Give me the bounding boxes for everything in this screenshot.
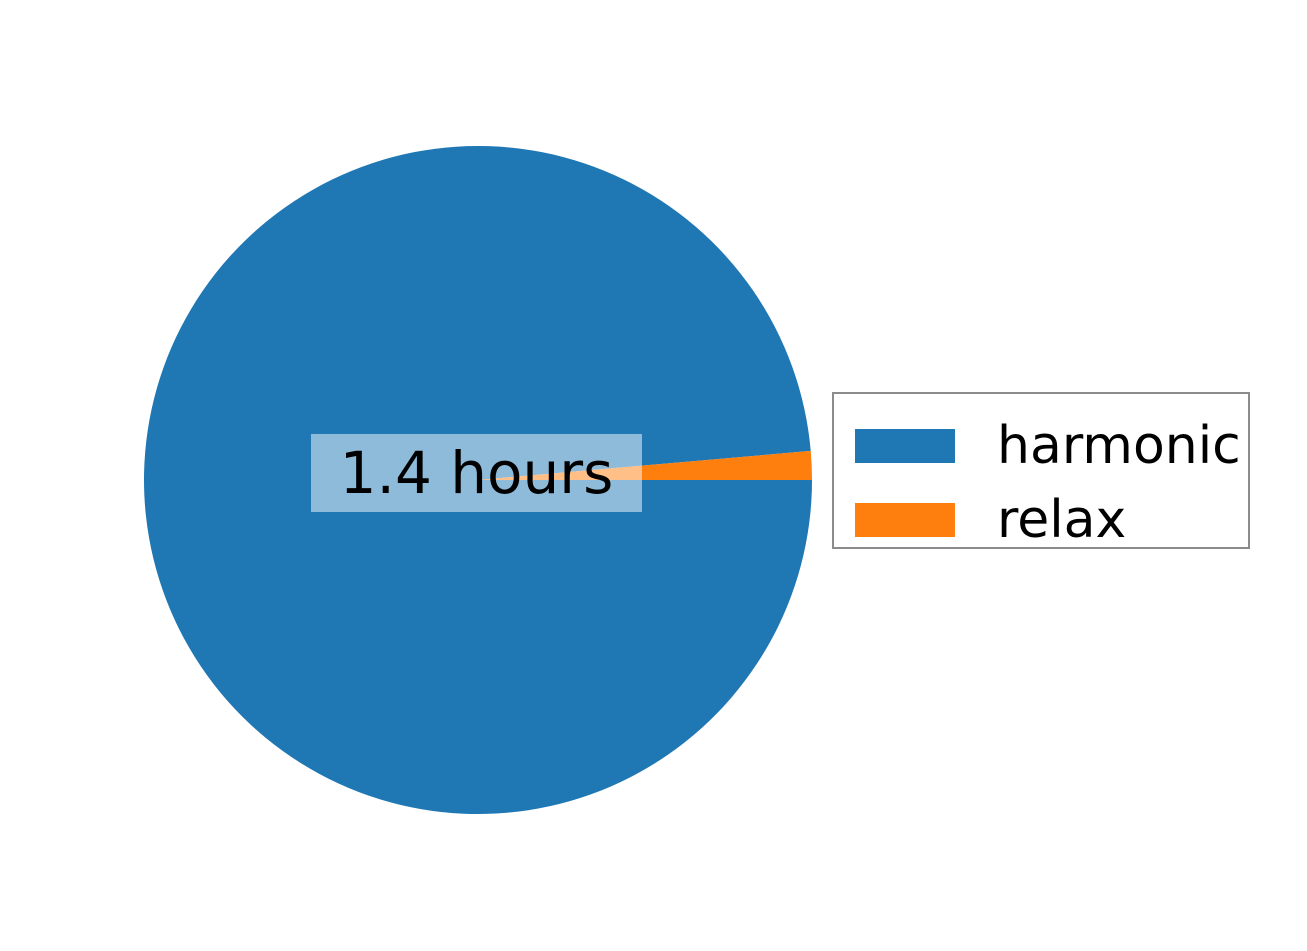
legend-item-harmonic[interactable]: harmonic [855,420,1241,472]
legend-item-relax[interactable]: relax [855,494,1126,546]
legend-color-swatch-relax [855,503,955,537]
legend-label-relax: relax [997,494,1126,546]
legend: harmonic relax [832,392,1250,549]
legend-color-swatch-harmonic [855,429,955,463]
legend-label-harmonic: harmonic [997,420,1241,472]
figure-canvas: 1.4 hours harmonic relax [0,0,1307,951]
pie-slice-label-text: 1.4 hours [340,444,614,502]
pie-slice-label-relax: 1.4 hours [311,434,642,512]
